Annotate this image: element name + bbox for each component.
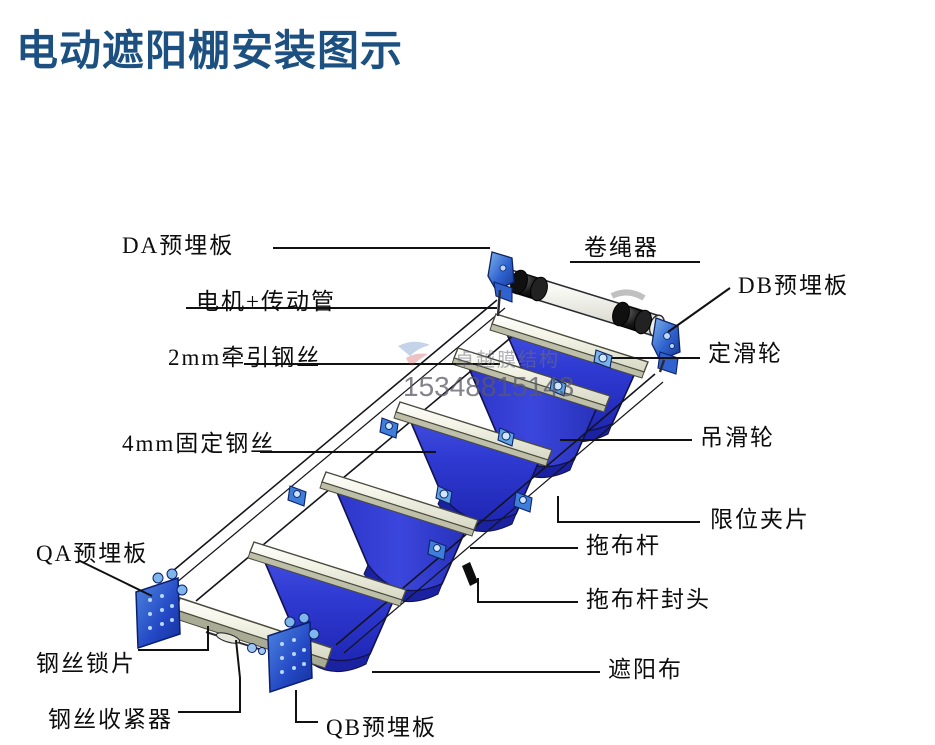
bracket-da — [488, 252, 514, 302]
rope-winder-right — [610, 300, 654, 336]
label-rope-winder: 卷绳器 — [584, 228, 659, 262]
awning-assembly-diagram — [0, 0, 935, 745]
label-shade-fabric: 遮阳布 — [608, 650, 683, 684]
limit-clip-2 — [288, 486, 306, 506]
label-wire-tensioner: 钢丝收紧器 — [48, 700, 173, 734]
label-fixed-wire-4mm: 4mm固定钢丝 — [122, 424, 275, 458]
label-limit-clip: 限位夹片 — [710, 500, 810, 534]
label-db-plate: DB预埋板 — [738, 266, 849, 300]
label-pull-wire-2mm: 2mm牵引钢丝 — [168, 338, 321, 372]
label-qa-plate: QA预埋板 — [36, 534, 148, 568]
label-motor-tube: 电机+传动管 — [196, 282, 336, 316]
label-drag-bar-cap: 拖布杆封头 — [586, 580, 711, 614]
label-fixed-pulley: 定滑轮 — [708, 334, 783, 368]
limit-clip-1 — [380, 418, 398, 438]
drag-bar-cap-part — [462, 562, 478, 586]
label-da-plate: DA预埋板 — [122, 226, 234, 260]
label-drag-bar: 拖布杆 — [586, 526, 661, 560]
label-wire-lock: 钢丝锁片 — [36, 644, 136, 678]
label-qb-plate: QB预埋板 — [326, 708, 437, 742]
label-hanging-pulley: 吊滑轮 — [700, 418, 775, 452]
